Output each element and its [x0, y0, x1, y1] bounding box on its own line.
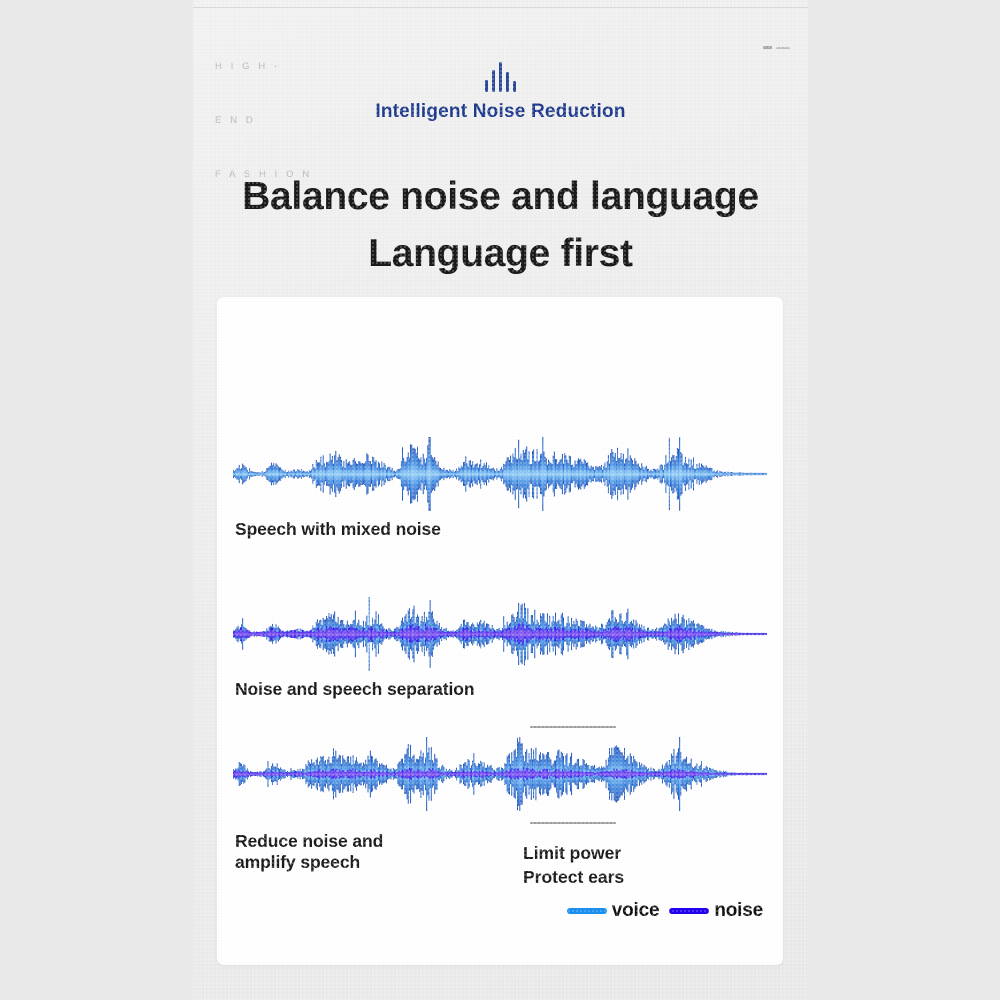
- poster-subtitle: Intelligent Noise Reduction: [193, 101, 808, 123]
- legend-label-noise: noise: [714, 900, 763, 922]
- screenshot-root: H I G H - E N D F A S H I O N Intelligen…: [0, 0, 1000, 1000]
- panel-3-caption: Reduce noise and amplify speech: [235, 831, 783, 873]
- limit-line-top: [530, 726, 616, 728]
- legend-swatch-noise: [669, 908, 709, 914]
- waveform-card: Speech with mixed noise Noise and speech…: [217, 297, 783, 965]
- limit-annotation-line-1: Limit power: [523, 841, 624, 865]
- limit-line-bottom: [530, 822, 616, 824]
- panel-3-caption-line-2: amplify speech: [235, 852, 783, 873]
- limit-annotation-line-2: Protect ears: [523, 865, 624, 889]
- panel-speech-with-mixed-noise: Speech with mixed noise: [217, 437, 783, 540]
- headline-line-1: Balance noise and language: [193, 168, 808, 225]
- waveform-bar-1: [485, 80, 488, 92]
- headline-line-2: Language first: [193, 225, 808, 282]
- dash-mark-icon: [763, 46, 790, 49]
- page-title: Balance noise and language Language firs…: [193, 168, 808, 282]
- waveform-bar-2: [492, 70, 495, 92]
- waveform-svg-3: [233, 737, 767, 811]
- waveform-chart-3: [233, 737, 767, 811]
- waveform-bar-5: [513, 81, 516, 92]
- panel-3-caption-line-1: Reduce noise and: [235, 831, 783, 852]
- legend-label-voice: voice: [612, 900, 660, 922]
- dash-mark-segment-2: [776, 47, 790, 49]
- legend-swatch-voice: [567, 908, 607, 914]
- legend-item-noise: noise: [669, 900, 763, 922]
- panel-2-caption: Noise and speech separation: [235, 679, 783, 700]
- limit-annotation: Limit power Protect ears: [523, 841, 624, 889]
- waveform-chart-1: [233, 437, 767, 511]
- chart-legend: voice noise: [567, 900, 763, 922]
- panel-1-caption: Speech with mixed noise: [235, 519, 783, 540]
- waveform-chart-2: [233, 597, 767, 671]
- waveform-bar-4: [506, 72, 509, 92]
- poster-top-divider: [193, 7, 808, 8]
- panel-noise-and-speech-separation: Noise and speech separation: [217, 597, 783, 700]
- legend-item-voice: voice: [567, 900, 660, 922]
- waveform-svg-2: [233, 597, 767, 671]
- panel-reduce-noise-amplify-speech: Reduce noise and amplify speech Limit po…: [217, 737, 783, 873]
- poster-sheet: H I G H - E N D F A S H I O N Intelligen…: [193, 0, 808, 1000]
- waveform-bar-3: [499, 62, 502, 92]
- waveform-svg-1: [233, 437, 767, 511]
- audio-waveform-icon: [193, 58, 808, 92]
- dash-mark-segment-1: [763, 46, 772, 49]
